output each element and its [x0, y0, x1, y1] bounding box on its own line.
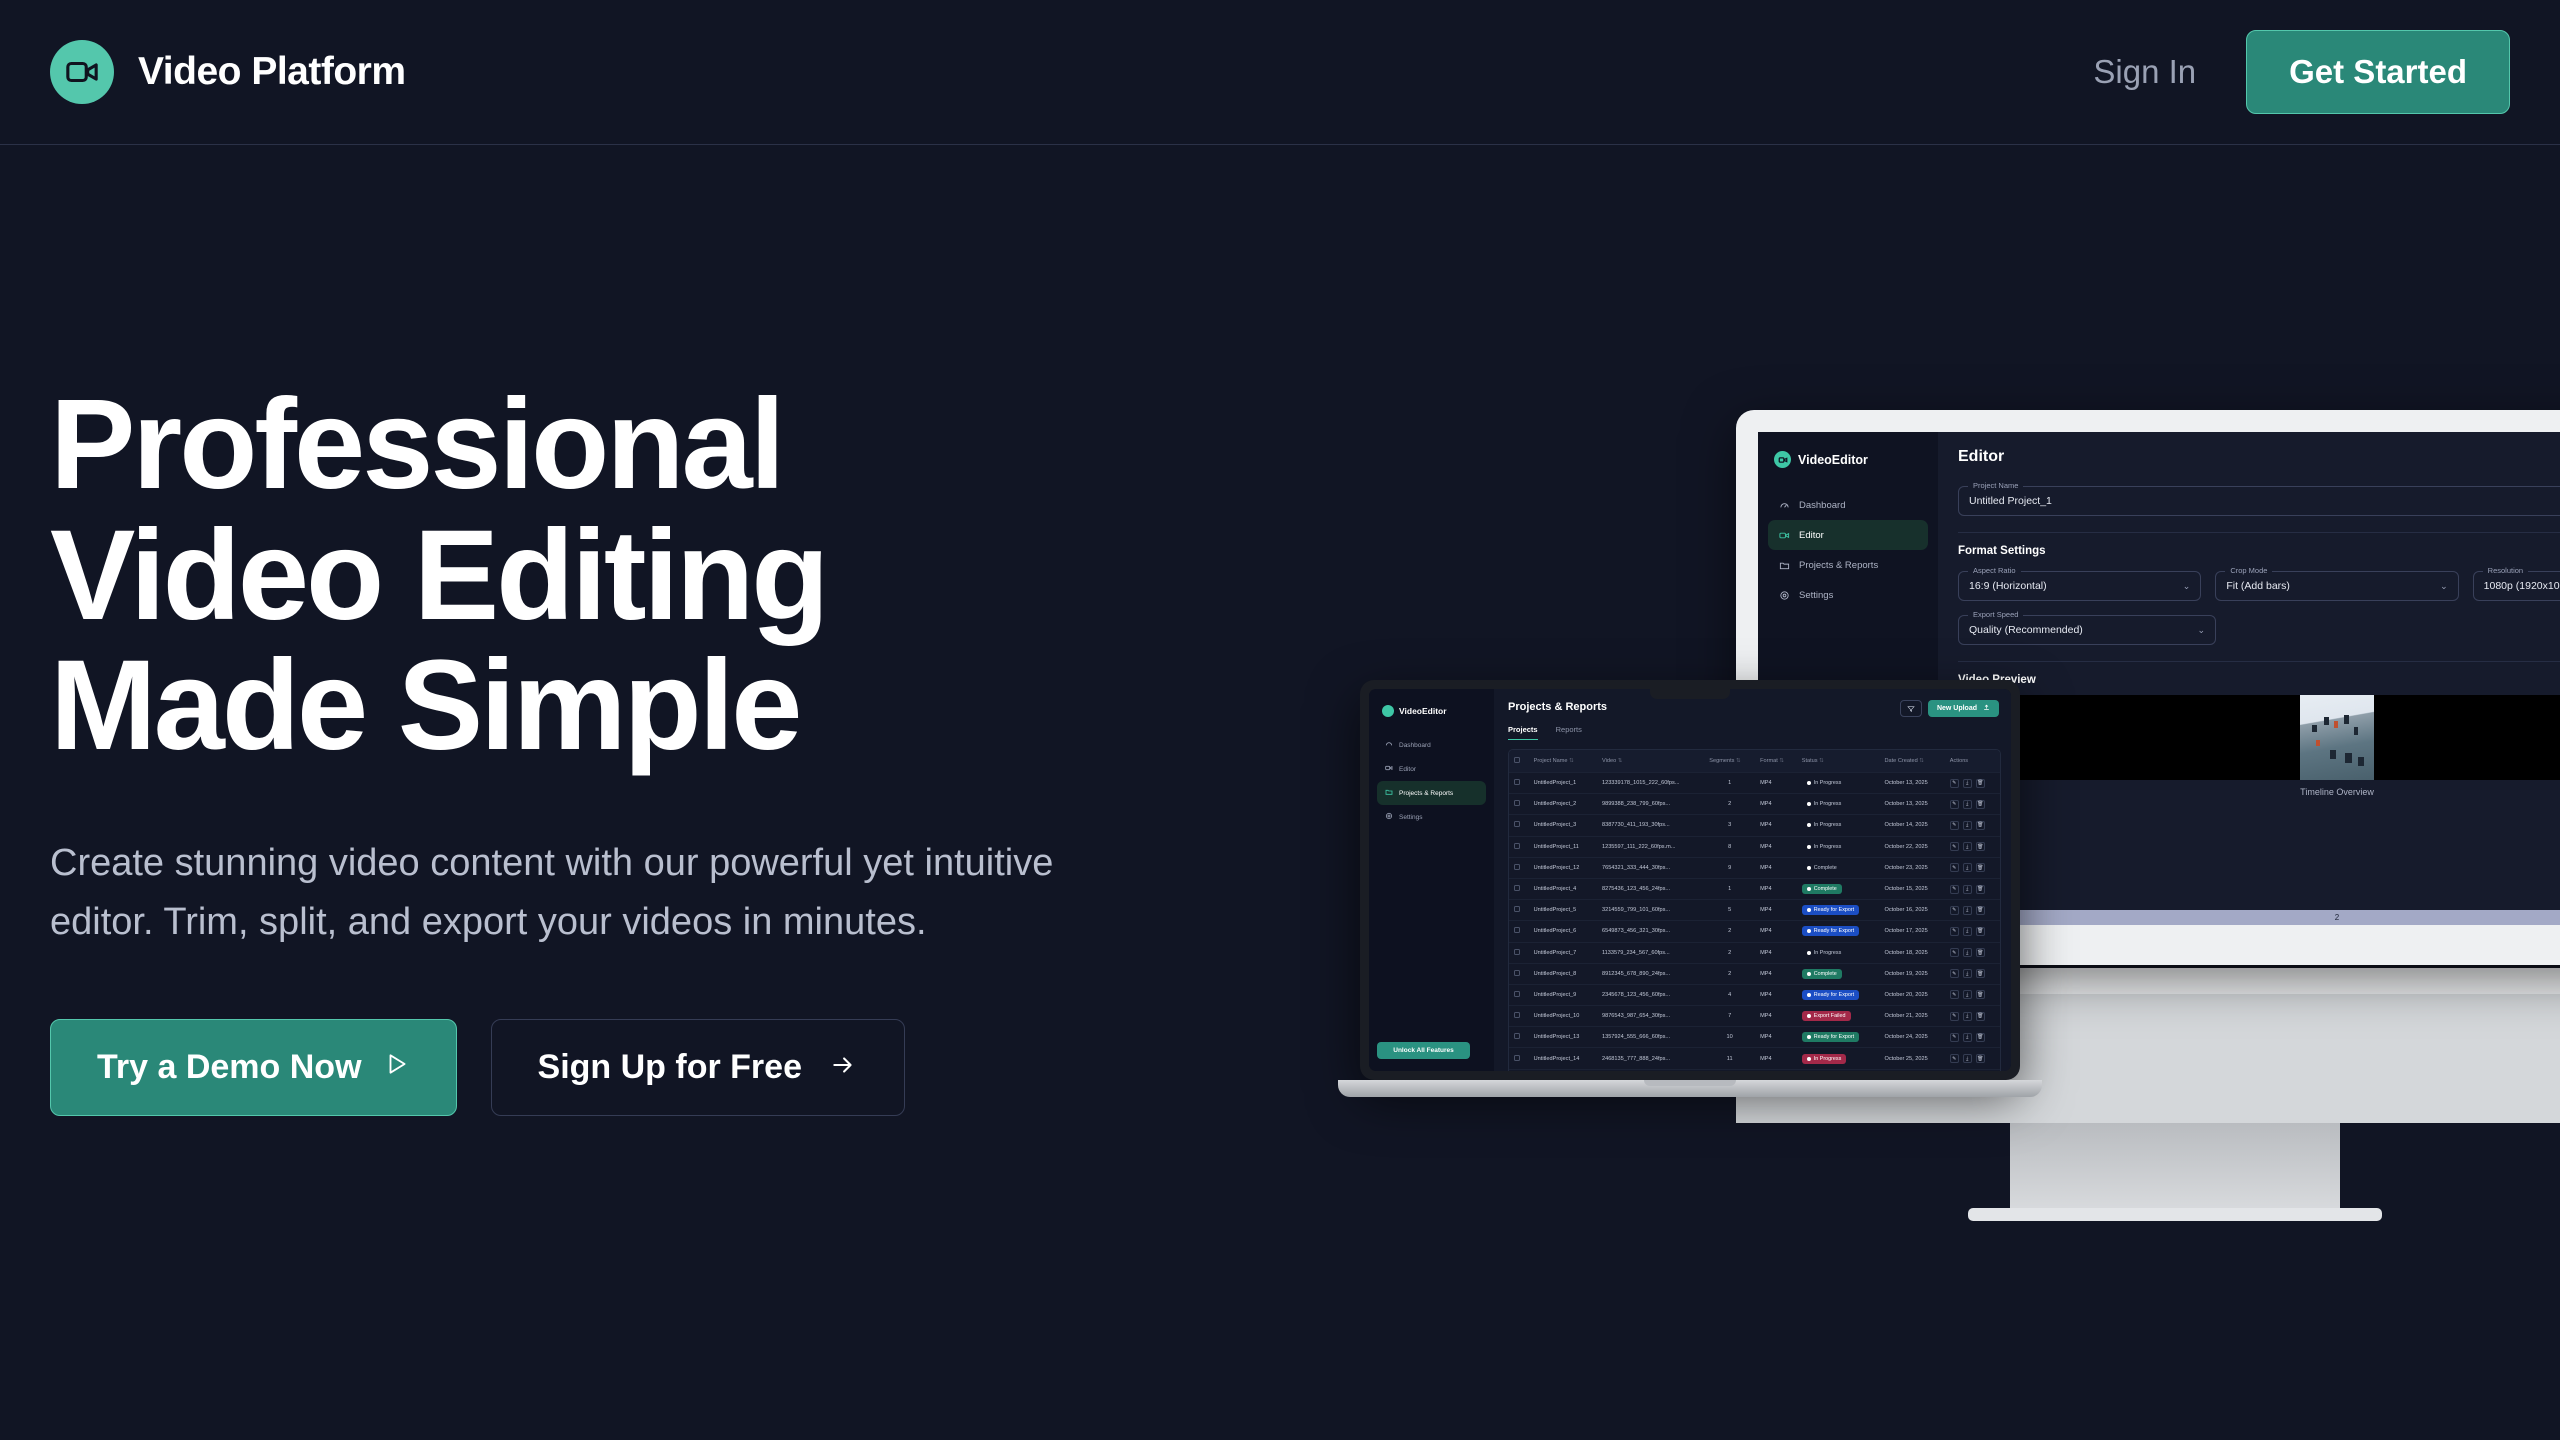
cell-actions[interactable]: ✎⤓🗑	[1945, 878, 2000, 899]
cell-actions[interactable]: ✎⤓🗑	[1945, 942, 2000, 963]
cell-date-created: October 18, 2025	[1879, 942, 1944, 963]
aspect-ratio-select[interactable]: Aspect Ratio 16:9 (Horizontal) ⌄	[1958, 571, 2201, 601]
cell-video: 1357924_555_666_60fps...	[1597, 1027, 1704, 1048]
sidebar-label: Settings	[1399, 814, 1423, 821]
divider	[1958, 661, 2560, 662]
laptop-base-notch	[1644, 1080, 1736, 1086]
trash-icon[interactable]: 🗑	[1976, 948, 1985, 957]
row-checkbox-cell[interactable]	[1509, 857, 1529, 878]
table-row[interactable]: UntitledProject_159871234_999_000_60fps.…	[1509, 1069, 2000, 1071]
column-header[interactable]: Actions	[1945, 750, 2000, 773]
sidebar-label: Settings	[1799, 590, 1833, 601]
cell-status: In Progress	[1797, 1048, 1880, 1069]
cell-actions[interactable]: ✎⤓🗑	[1945, 857, 2000, 878]
editor-main: Editor Save Exp Project Name Untitled Pr…	[1938, 432, 2560, 925]
cell-project-name: UntitledProject_15	[1529, 1069, 1597, 1071]
sidebar-label: Dashboard	[1399, 742, 1431, 749]
aspect-ratio-value: 16:9 (Horizontal)	[1969, 580, 2047, 592]
cell-actions[interactable]: ✎⤓🗑	[1945, 921, 2000, 942]
edit-icon[interactable]: ✎	[1950, 948, 1959, 957]
table-row[interactable]: UntitledProject_29899388_238_799_60fps..…	[1509, 794, 2000, 815]
row-checkbox[interactable]	[1514, 927, 1520, 933]
project-name-field[interactable]: Project Name Untitled Project_1	[1958, 486, 2560, 516]
trash-icon[interactable]: 🗑	[1976, 842, 1985, 851]
cell-actions[interactable]: ✎⤓🗑	[1945, 963, 2000, 984]
row-checkbox-cell[interactable]	[1509, 1069, 1529, 1071]
cell-status: In Progress	[1797, 815, 1880, 836]
try-demo-label: Try a Demo Now	[97, 1048, 362, 1087]
video-camera-icon	[50, 40, 114, 104]
edit-icon[interactable]: ✎	[1950, 906, 1959, 915]
row-checkbox[interactable]	[1514, 1012, 1520, 1018]
sidebar-label: Editor	[1799, 530, 1824, 541]
preview-thumbnail	[2300, 695, 2374, 780]
video-camera-icon	[1774, 451, 1791, 468]
download-icon[interactable]: ⤓	[1963, 779, 1972, 788]
table-row[interactable]: UntitledProject_127654321_333_444_30fps.…	[1509, 857, 2000, 878]
sort-icon[interactable]: ⇅	[1819, 758, 1824, 764]
sidebar-item-projects-reports[interactable]: Projects & Reports	[1377, 781, 1486, 805]
get-started-button[interactable]: Get Started	[2246, 30, 2510, 114]
trash-icon[interactable]: 🗑	[1976, 885, 1985, 894]
download-icon[interactable]: ⤓	[1963, 863, 1972, 872]
chevron-down-icon: ⌄	[2197, 625, 2205, 636]
cell-date-created: October 22, 2025	[1879, 836, 1944, 857]
row-checkbox-cell[interactable]	[1509, 878, 1529, 899]
header-actions: Sign In Get Started	[2093, 30, 2510, 114]
divider	[1958, 532, 2560, 533]
row-checkbox[interactable]	[1514, 1033, 1520, 1039]
cell-segments: 2	[1704, 794, 1755, 815]
cell-video: 3214559_799_101_60fps...	[1597, 900, 1704, 921]
sidebar-item-projects-reports[interactable]: Projects & Reports	[1768, 550, 1928, 580]
cell-video: 8275436_123_456_24fps...	[1597, 878, 1704, 899]
row-checkbox[interactable]	[1514, 970, 1520, 976]
download-icon[interactable]: ⤓	[1963, 927, 1972, 936]
column-header[interactable]: Format ⇅	[1755, 750, 1797, 773]
status-badge: In Progress	[1802, 948, 1847, 958]
cell-segments: 2	[1704, 942, 1755, 963]
status-badge: In Progress	[1802, 820, 1847, 830]
project-name-label: Project Name	[1968, 481, 2023, 490]
cell-status: Complete	[1797, 1069, 1880, 1071]
video-preview[interactable]	[1958, 695, 2560, 780]
cell-project-name: UntitledProject_3	[1529, 815, 1597, 836]
sort-icon[interactable]: ⇅	[1919, 758, 1924, 764]
format-settings-row-2: Export Speed Quality (Recommended) ⌄	[1958, 615, 2560, 645]
video-preview-header: Video Preview Video player size	[1958, 674, 2560, 686]
arrow-right-icon	[828, 1048, 858, 1087]
table-row[interactable]: UntitledProject_71133579_234_567_60fps..…	[1509, 942, 2000, 963]
cell-video: 9899388_238_799_60fps...	[1597, 794, 1704, 815]
cell-format: MP4	[1755, 1027, 1797, 1048]
play-triangle-icon	[384, 1048, 410, 1087]
export-speed-label: Export Speed	[1968, 610, 2023, 619]
edit-icon[interactable]: ✎	[1950, 969, 1959, 978]
cell-date-created: October 20, 2025	[1879, 984, 1944, 1005]
download-icon[interactable]: ⤓	[1963, 948, 1972, 957]
cell-format: MP4	[1755, 942, 1797, 963]
sort-icon[interactable]: ⇅	[1569, 758, 1574, 764]
status-badge: In Progress	[1802, 778, 1847, 788]
cell-project-name: UntitledProject_11	[1529, 836, 1597, 857]
column-header[interactable]: Segments ⇅	[1704, 750, 1755, 773]
cell-format: MP4	[1755, 1048, 1797, 1069]
cell-date-created: October 23, 2025	[1879, 857, 1944, 878]
status-badge: Complete	[1802, 969, 1842, 979]
cell-video: 8912345_678_890_24fps...	[1597, 963, 1704, 984]
cell-project-name: UntitledProject_7	[1529, 942, 1597, 963]
hero-title-line-3: Made Simple	[50, 641, 1150, 772]
monitor-stand	[2010, 1123, 2340, 1213]
trash-icon[interactable]: 🗑	[1976, 779, 1985, 788]
trash-icon[interactable]: 🗑	[1976, 800, 1985, 809]
sidebar-item-settings[interactable]: Settings	[1768, 580, 1928, 610]
cell-segments: 7	[1704, 1006, 1755, 1027]
cell-date-created: October 26, 2025	[1879, 1069, 1944, 1071]
select-all-checkbox[interactable]	[1514, 757, 1520, 763]
hero-subtitle: Create stunning video content with our p…	[50, 834, 1110, 952]
status-badge: In Progress	[1802, 799, 1847, 809]
trash-icon[interactable]: 🗑	[1976, 1054, 1985, 1063]
cell-format: MP4	[1755, 878, 1797, 899]
cell-project-name: UntitledProject_5	[1529, 900, 1597, 921]
row-checkbox[interactable]	[1514, 800, 1520, 806]
edit-icon[interactable]: ✎	[1950, 779, 1959, 788]
laptop-tabs: Projects Reports	[1508, 725, 2001, 740]
download-icon[interactable]: ⤓	[1963, 1054, 1972, 1063]
folder-icon	[1385, 788, 1393, 798]
cell-actions[interactable]: ✎⤓🗑	[1945, 836, 2000, 857]
cell-segments: 8	[1704, 836, 1755, 857]
product-mockups: VideoEditor Dashboard Editor Projects & …	[1360, 380, 2560, 1200]
cell-format: MP4	[1755, 794, 1797, 815]
edit-icon[interactable]: ✎	[1950, 1033, 1959, 1042]
row-checkbox[interactable]	[1514, 885, 1520, 891]
cell-date-created: October 19, 2025	[1879, 963, 1944, 984]
row-checkbox-cell[interactable]	[1509, 794, 1529, 815]
video-camera-icon	[1382, 705, 1394, 717]
row-checkbox[interactable]	[1514, 949, 1520, 955]
download-icon[interactable]: ⤓	[1963, 842, 1972, 851]
cell-actions[interactable]: ✎⤓🗑	[1945, 1048, 2000, 1069]
chevron-down-icon: ⌄	[2183, 581, 2191, 592]
laptop-mockup: VideoEditor Dashboard Editor Projects & …	[1360, 680, 2020, 1110]
sort-icon[interactable]: ⇅	[1736, 758, 1741, 764]
cell-status: Export Failed	[1797, 1006, 1880, 1027]
crop-mode-select[interactable]: Crop Mode Fit (Add bars) ⌄	[2215, 571, 2458, 601]
crop-mode-value: Fit (Add bars)	[2226, 580, 2290, 592]
edit-icon[interactable]: ✎	[1950, 800, 1959, 809]
cell-date-created: October 13, 2025	[1879, 794, 1944, 815]
column-header[interactable]	[1509, 750, 1529, 773]
page-title: Professional Video Editing Made Simple	[50, 380, 1150, 772]
trash-icon[interactable]: 🗑	[1976, 1012, 1985, 1021]
hero-title-line-2: Video Editing	[50, 511, 1150, 642]
edit-icon[interactable]: ✎	[1950, 821, 1959, 830]
download-icon[interactable]: ⤓	[1963, 800, 1972, 809]
row-checkbox-cell[interactable]	[1509, 963, 1529, 984]
sort-icon[interactable]: ⇅	[1618, 758, 1623, 764]
sidebar-label: Projects & Reports	[1799, 560, 1878, 571]
download-icon[interactable]: ⤓	[1963, 906, 1972, 915]
row-checkbox[interactable]	[1514, 843, 1520, 849]
folder-icon	[1778, 559, 1790, 571]
editor-page-title: Editor	[1958, 448, 2560, 466]
export-speed-select[interactable]: Export Speed Quality (Recommended) ⌄	[1958, 615, 2216, 645]
column-header[interactable]: Status ⇅	[1797, 750, 1880, 773]
row-checkbox[interactable]	[1514, 779, 1520, 785]
project-name-value: Untitled Project_1	[1969, 495, 2052, 507]
trash-icon[interactable]: 🗑	[1976, 927, 1985, 936]
table-row[interactable]: UntitledProject_92345678_123_456_60fps..…	[1509, 984, 2000, 1005]
editor-brand-name: VideoEditor	[1798, 453, 1868, 467]
video-camera-icon	[1778, 529, 1790, 541]
cell-video: 9876543_987_654_30fps...	[1597, 1006, 1704, 1027]
trash-icon[interactable]: 🗑	[1976, 1033, 1985, 1042]
cell-video: 2345678_123_456_60fps...	[1597, 984, 1704, 1005]
cell-project-name: UntitledProject_1	[1529, 773, 1597, 794]
new-upload-label: New Upload	[1937, 705, 1977, 712]
column-header[interactable]: Date Created ⇅	[1879, 750, 1944, 773]
cell-segments: 9	[1704, 857, 1755, 878]
cell-project-name: UntitledProject_10	[1529, 1006, 1597, 1027]
cell-video: 1235597_111_222_60fps.m...	[1597, 836, 1704, 857]
sign-up-free-button[interactable]: Sign Up for Free	[491, 1019, 905, 1116]
row-checkbox-cell[interactable]	[1509, 773, 1529, 794]
cell-project-name: UntitledProject_2	[1529, 794, 1597, 815]
table-row[interactable]: UntitledProject_66549873_456_321_30fps..…	[1509, 921, 2000, 942]
export-speed-value: Quality (Recommended)	[1969, 624, 2083, 636]
cell-video: 2468135_777_888_24fps...	[1597, 1048, 1704, 1069]
cell-status: In Progress	[1797, 942, 1880, 963]
brand[interactable]: Video Platform	[50, 40, 406, 104]
trash-icon[interactable]: 🗑	[1976, 821, 1985, 830]
format-settings-heading: Format Settings	[1958, 545, 2560, 557]
download-icon[interactable]: ⤓	[1963, 885, 1972, 894]
cell-format: MP4	[1755, 1069, 1797, 1071]
resolution-value: 1080p (1920x1080)	[2484, 580, 2560, 592]
editor-brand: VideoEditor	[1774, 451, 1928, 468]
cell-video: 7654321_333_444_30fps...	[1597, 857, 1704, 878]
video-camera-icon	[1385, 764, 1393, 774]
row-checkbox-cell[interactable]	[1509, 900, 1529, 921]
cell-segments: 2	[1704, 921, 1755, 942]
cell-date-created: October 16, 2025	[1879, 900, 1944, 921]
cell-date-created: October 13, 2025	[1879, 773, 1944, 794]
brand-name: Video Platform	[138, 50, 406, 94]
edit-icon[interactable]: ✎	[1950, 1012, 1959, 1021]
format-settings-row-1: Aspect Ratio 16:9 (Horizontal) ⌄ Crop Mo…	[1958, 571, 2560, 601]
column-header[interactable]: Project Name ⇅	[1529, 750, 1597, 773]
sign-up-label: Sign Up for Free	[538, 1048, 802, 1087]
try-demo-button[interactable]: Try a Demo Now	[50, 1019, 457, 1116]
aspect-ratio-label: Aspect Ratio	[1968, 566, 2021, 575]
cell-date-created: October 24, 2025	[1879, 1027, 1944, 1048]
gear-icon	[1778, 589, 1790, 601]
trash-icon[interactable]: 🗑	[1976, 969, 1985, 978]
trash-icon[interactable]: 🗑	[1976, 906, 1985, 915]
upload-icon	[1983, 704, 1990, 713]
gauge-icon	[1778, 499, 1790, 511]
projects-table: Project Name ⇅Video ⇅Segments ⇅Format ⇅S…	[1508, 749, 2001, 1071]
table-row[interactable]: UntitledProject_111235597_111_222_60fps.…	[1509, 836, 2000, 857]
cell-status: In Progress	[1797, 794, 1880, 815]
laptop-lid: VideoEditor Dashboard Editor Projects & …	[1360, 680, 2020, 1080]
status-badge: Complete	[1802, 863, 1842, 873]
edit-icon[interactable]: ✎	[1950, 863, 1959, 872]
edit-icon[interactable]: ✎	[1950, 927, 1959, 936]
cell-project-name: UntitledProject_6	[1529, 921, 1597, 942]
laptop-sidebar: VideoEditor Dashboard Editor Projects & …	[1369, 689, 1494, 1071]
download-icon[interactable]: ⤓	[1963, 1012, 1972, 1021]
table-row[interactable]: UntitledProject_1123339178_1015_222_60fp…	[1509, 773, 2000, 794]
cell-project-name: UntitledProject_9	[1529, 984, 1597, 1005]
cell-video: 8387730_411_193_30fps...	[1597, 815, 1704, 836]
status-badge: Ready for Export	[1802, 926, 1859, 936]
sidebar-label: Editor	[1399, 766, 1416, 773]
cell-project-name: UntitledProject_13	[1529, 1027, 1597, 1048]
row-checkbox[interactable]	[1514, 906, 1520, 912]
cell-actions[interactable]: ✎⤓🗑	[1945, 1069, 2000, 1071]
resolution-select[interactable]: Resolution 1080p (1920x1080) ⌄	[2473, 571, 2560, 601]
row-checkbox-cell[interactable]	[1509, 942, 1529, 963]
download-icon[interactable]: ⤓	[1963, 1033, 1972, 1042]
sidebar-label: Dashboard	[1799, 500, 1845, 511]
cell-segments: 10	[1704, 1027, 1755, 1048]
cell-status: Complete	[1797, 878, 1880, 899]
row-checkbox-cell[interactable]	[1509, 1048, 1529, 1069]
sort-icon[interactable]: ⇅	[1779, 758, 1784, 764]
cell-format: MP4	[1755, 857, 1797, 878]
table-row[interactable]: UntitledProject_53214559_799_101_60fps..…	[1509, 900, 2000, 921]
edit-icon[interactable]: ✎	[1950, 1054, 1959, 1063]
table-row[interactable]: UntitledProject_131357924_555_666_60fps.…	[1509, 1027, 2000, 1048]
new-upload-button[interactable]: New Upload	[1928, 700, 1999, 717]
cell-status: In Progress	[1797, 836, 1880, 857]
unlock-all-features-button[interactable]: Unlock All Features	[1377, 1042, 1470, 1059]
cell-video: 6549873_456_321_30fps...	[1597, 921, 1704, 942]
cell-format: MP4	[1755, 963, 1797, 984]
sidebar-item-editor[interactable]: Editor	[1768, 520, 1928, 550]
cell-date-created: October 14, 2025	[1879, 815, 1944, 836]
laptop-notch	[1650, 689, 1730, 699]
table-row[interactable]: UntitledProject_38387730_411_193_30fps..…	[1509, 815, 2000, 836]
cell-segments: 4	[1704, 984, 1755, 1005]
timeline-overview-label: Timeline Overview	[1958, 787, 2560, 797]
cell-actions[interactable]: ✎⤓🗑	[1945, 984, 2000, 1005]
sidebar-item-settings[interactable]: Settings	[1377, 805, 1486, 829]
row-checkbox[interactable]	[1514, 821, 1520, 827]
status-badge: In Progress	[1802, 842, 1847, 852]
cell-segments: 1	[1704, 878, 1755, 899]
cell-status: Complete	[1797, 963, 1880, 984]
cell-project-name: UntitledProject_8	[1529, 963, 1597, 984]
monitor-foot	[1968, 1208, 2382, 1221]
cell-format: MP4	[1755, 836, 1797, 857]
tab-reports[interactable]: Reports	[1556, 725, 1582, 740]
cell-format: MP4	[1755, 815, 1797, 836]
download-icon[interactable]: ⤓	[1963, 990, 1972, 999]
row-checkbox-cell[interactable]	[1509, 1006, 1529, 1027]
resolution-label: Resolution	[2483, 566, 2528, 575]
row-checkbox-cell[interactable]	[1509, 1027, 1529, 1048]
row-checkbox[interactable]	[1514, 864, 1520, 870]
table-row[interactable]: UntitledProject_142468135_777_888_24fps.…	[1509, 1048, 2000, 1069]
cell-project-name: UntitledProject_4	[1529, 878, 1597, 899]
cell-segments: 1	[1704, 773, 1755, 794]
cell-project-name: UntitledProject_14	[1529, 1048, 1597, 1069]
cell-date-created: October 21, 2025	[1879, 1006, 1944, 1027]
sidebar-item-dashboard[interactable]: Dashboard	[1768, 490, 1928, 520]
tab-projects[interactable]: Projects	[1508, 725, 1538, 740]
column-header[interactable]: Video ⇅	[1597, 750, 1704, 773]
status-badge: Complete	[1802, 884, 1842, 894]
row-checkbox-cell[interactable]	[1509, 836, 1529, 857]
cell-actions[interactable]: ✎⤓🗑	[1945, 815, 2000, 836]
cell-actions[interactable]: ✎⤓🗑	[1945, 794, 2000, 815]
status-badge: Ready for Export	[1802, 990, 1859, 1000]
table-row[interactable]: UntitledProject_88912345_678_890_24fps..…	[1509, 963, 2000, 984]
cell-video: 9871234_999_000_60fps...	[1597, 1069, 1704, 1071]
edit-icon[interactable]: ✎	[1950, 990, 1959, 999]
trash-icon[interactable]: 🗑	[1976, 863, 1985, 872]
cell-video: 1133579_234_567_60fps...	[1597, 942, 1704, 963]
table-header-row: Project Name ⇅Video ⇅Segments ⇅Format ⇅S…	[1509, 750, 2000, 773]
cell-status: Ready for Export	[1797, 984, 1880, 1005]
table-row[interactable]: UntitledProject_48275436_123_456_24fps..…	[1509, 878, 2000, 899]
timeline-marker[interactable]: 2	[1938, 910, 2560, 925]
cell-segments: 11	[1704, 1048, 1755, 1069]
sign-in-button[interactable]: Sign In	[2093, 53, 2196, 91]
status-badge: Export Failed	[1802, 1011, 1851, 1021]
hero-buttons: Try a Demo Now Sign Up for Free	[50, 1019, 1150, 1116]
laptop-brand-name: VideoEditor	[1399, 706, 1447, 716]
row-checkbox-cell[interactable]	[1509, 815, 1529, 836]
cell-format: MP4	[1755, 1006, 1797, 1027]
funnel-icon[interactable]	[1900, 700, 1922, 717]
row-checkbox-cell[interactable]	[1509, 921, 1529, 942]
row-checkbox[interactable]	[1514, 991, 1520, 997]
download-icon[interactable]: ⤓	[1963, 969, 1972, 978]
row-checkbox[interactable]	[1514, 1055, 1520, 1061]
hero-title-line-1: Professional	[50, 380, 1150, 511]
sidebar-item-dashboard[interactable]: Dashboard	[1377, 733, 1486, 757]
download-icon[interactable]: ⤓	[1963, 821, 1972, 830]
status-badge: Ready for Export	[1802, 1032, 1859, 1042]
cell-format: MP4	[1755, 900, 1797, 921]
cell-format: MP4	[1755, 773, 1797, 794]
sidebar-item-editor[interactable]: Editor	[1377, 757, 1486, 781]
edit-icon[interactable]: ✎	[1950, 842, 1959, 851]
crop-mode-label: Crop Mode	[2225, 566, 2272, 575]
trash-icon[interactable]: 🗑	[1976, 990, 1985, 999]
laptop-main: Projects & Reports New Upload Projects R…	[1494, 689, 2011, 1071]
row-checkbox-cell[interactable]	[1509, 984, 1529, 1005]
cell-segments: 3	[1704, 815, 1755, 836]
cell-actions[interactable]: ✎⤓🗑	[1945, 900, 2000, 921]
cell-actions[interactable]: ✎⤓🗑	[1945, 1006, 2000, 1027]
cell-status: Complete	[1797, 857, 1880, 878]
table-row[interactable]: UntitledProject_109876543_987_654_30fps.…	[1509, 1006, 2000, 1027]
site-header: Video Platform Sign In Get Started	[0, 0, 2560, 145]
cell-actions[interactable]: ✎⤓🗑	[1945, 1027, 2000, 1048]
cell-actions[interactable]: ✎⤓🗑	[1945, 773, 2000, 794]
cell-segments: 5	[1704, 900, 1755, 921]
cell-format: MP4	[1755, 984, 1797, 1005]
edit-icon[interactable]: ✎	[1950, 885, 1959, 894]
projects-app-screen: VideoEditor Dashboard Editor Projects & …	[1369, 689, 2011, 1071]
